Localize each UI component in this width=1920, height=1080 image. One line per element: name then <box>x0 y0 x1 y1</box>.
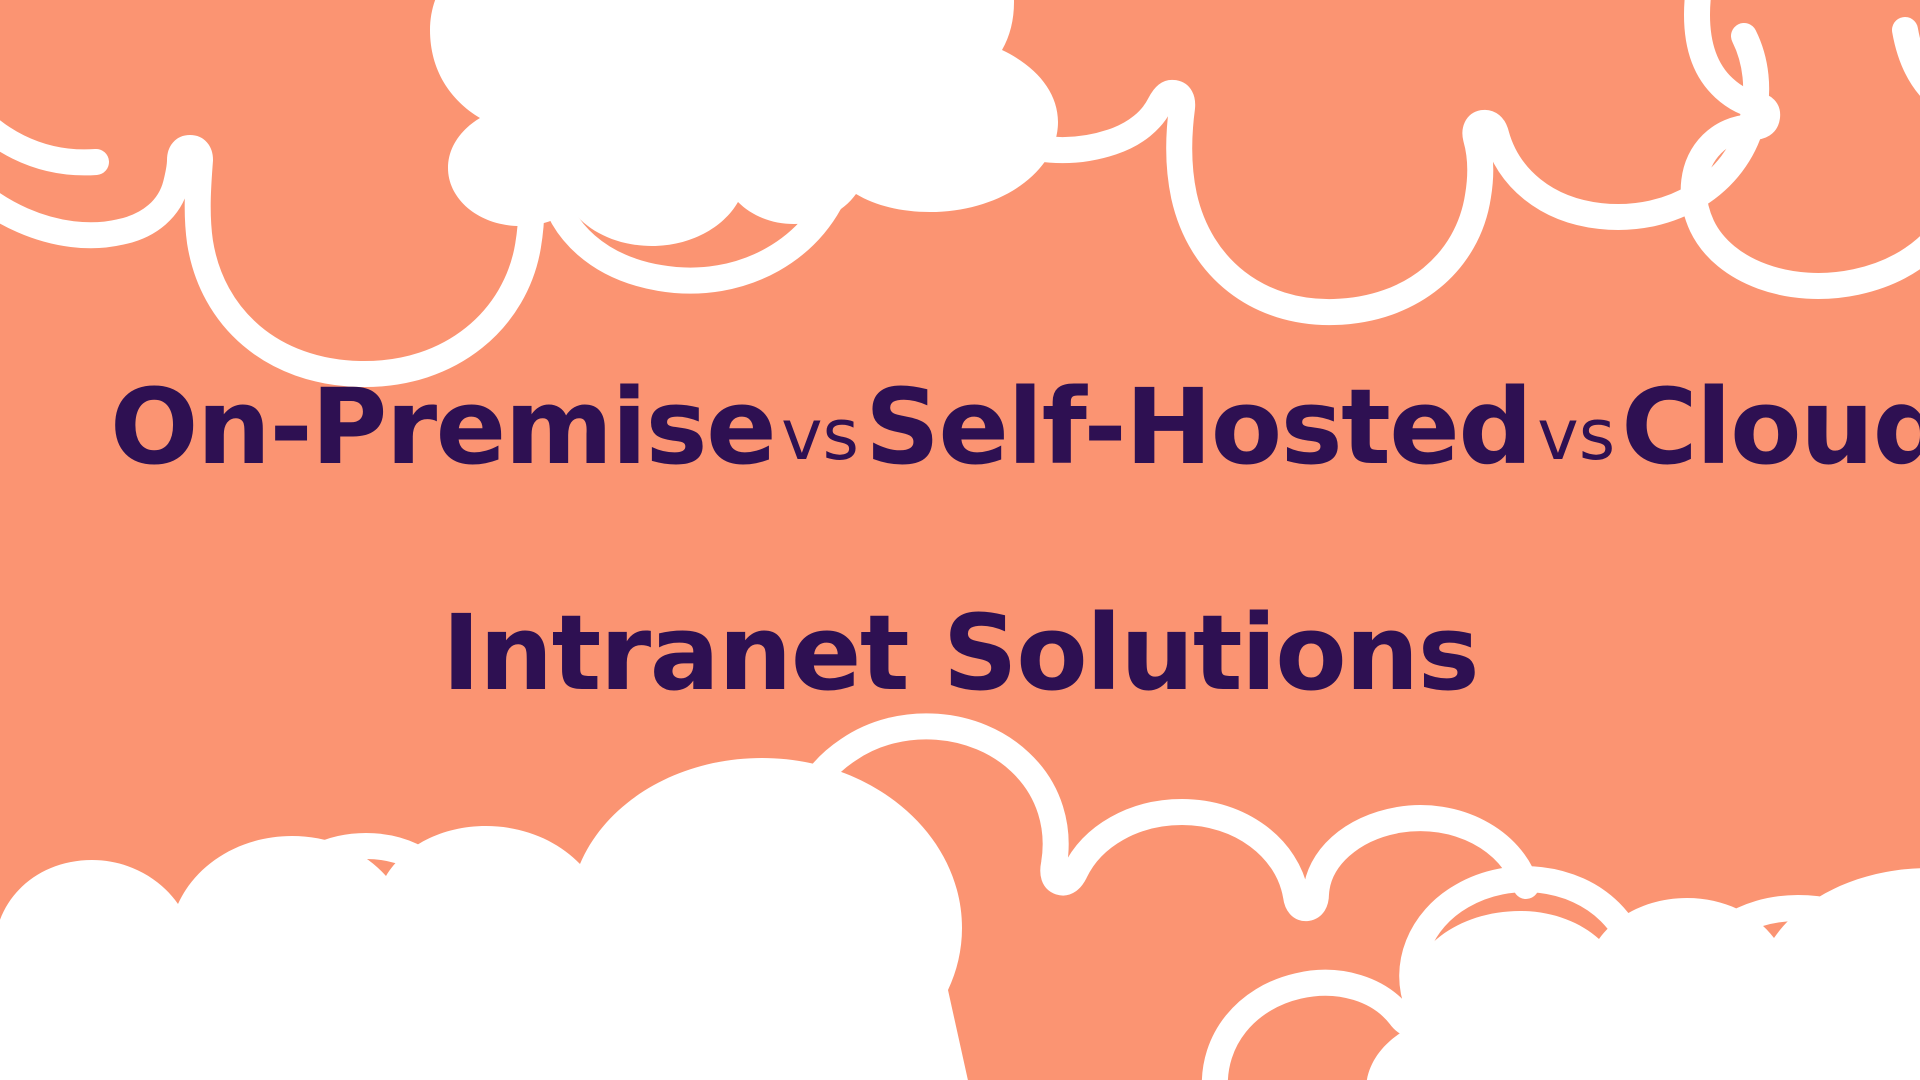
cloud-decoration-artwork <box>0 0 1920 1080</box>
cloud-filled-bottom-left <box>0 758 990 1080</box>
slide-canvas: On-PremisevsSelf-HostedvsCloud Intranet … <box>0 0 1920 1080</box>
cloud-band-bottom <box>0 726 1920 1080</box>
cloud-outline-top-far-left <box>0 96 96 162</box>
cloud-outline-top-corner <box>1905 30 1920 110</box>
cloud-outline-top-right <box>1694 0 1920 286</box>
cloud-outline-top-middle <box>972 36 1756 312</box>
cloud-band-top <box>0 0 1920 374</box>
